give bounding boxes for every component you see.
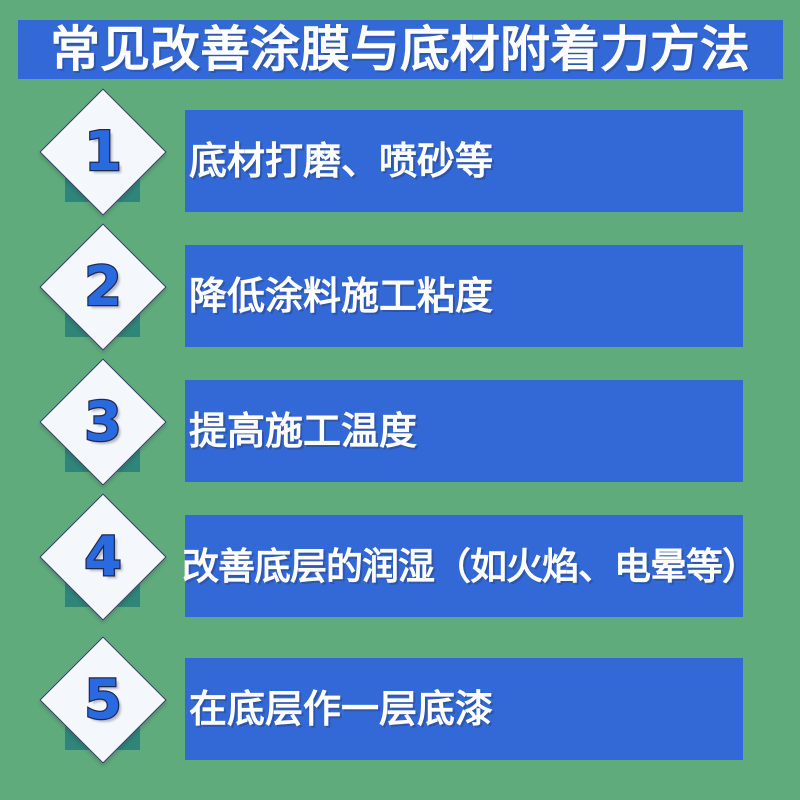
list-item: 4 改善底层的润湿（如火焰、电晕等） [0, 505, 800, 640]
badge-number: 4 [58, 512, 148, 602]
badge-number: 3 [58, 377, 148, 467]
list-item: 5 在底层作一层底漆 [0, 648, 800, 783]
method-label: 在底层作一层底漆 [185, 658, 785, 760]
method-label: 提高施工温度 [185, 380, 785, 482]
page-title: 常见改善涂膜与底材附着力方法 [51, 25, 751, 74]
badge-number: 5 [58, 655, 148, 745]
method-label: 降低涂料施工粘度 [185, 245, 785, 347]
infographic-poster: 常见改善涂膜与底材附着力方法 1 底材打磨、喷砂等 2 降低涂料施工粘度 3 提… [0, 0, 800, 800]
title-banner: 常见改善涂膜与底材附着力方法 [18, 20, 783, 79]
list-item: 1 底材打磨、喷砂等 [0, 100, 800, 235]
list-item: 3 提高施工温度 [0, 370, 800, 505]
list-item: 2 降低涂料施工粘度 [0, 235, 800, 370]
method-label: 改善底层的润湿（如火焰、电晕等） [178, 515, 778, 617]
method-label: 底材打磨、喷砂等 [185, 110, 785, 212]
badge-number: 1 [58, 107, 148, 197]
badge-number: 2 [58, 242, 148, 332]
